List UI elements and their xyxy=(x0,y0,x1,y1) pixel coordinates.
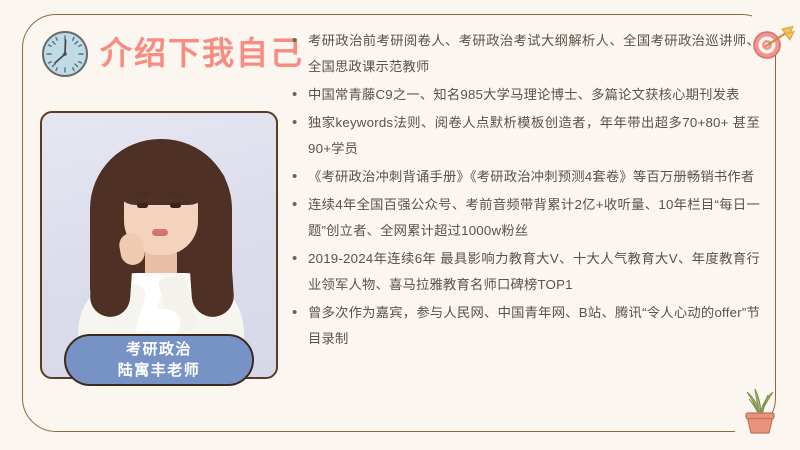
bullet-marker-icon: • xyxy=(292,192,308,218)
list-item: • 中国常青藤C9之一、知名985大学马理论博士、多篇论文获核心期刊发表 xyxy=(292,82,760,108)
portrait-lips xyxy=(152,229,168,236)
list-item-text: 独家keywords法则、阅卷人点默析模板创造者，年年带出超多70+80+ 甚至… xyxy=(308,110,760,162)
list-item: • 《考研政治冲刺背诵手册》《考研政治冲刺预测4套卷》等百万册畅销书作者 xyxy=(292,164,760,190)
portrait-eye-right xyxy=(170,203,181,208)
list-item-text: 《考研政治冲刺背诵手册》《考研政治冲刺预测4套卷》等百万册畅销书作者 xyxy=(308,164,760,190)
list-item-text: 连续4年全国百强公众号、考前音频带背累计2亿+收听量、10年栏目“每日一题”创立… xyxy=(308,192,760,244)
instructor-name-badge: 考研政治 陆寓丰老师 xyxy=(64,334,254,386)
list-item-text: 2019-2024年连续6年 最具影响力教育大V、十大人气教育大V、年度教育行业… xyxy=(308,246,760,298)
bullet-marker-icon: • xyxy=(292,110,308,136)
credentials-list: • 考研政治前考研阅卷人、考研政治考试大纲解析人、全国考研政治巡讲师、全国思政课… xyxy=(292,28,760,354)
list-item: • 连续4年全国百强公众号、考前音频带背累计2亿+收听量、10年栏目“每日一题”… xyxy=(292,192,760,244)
list-item: • 独家keywords法则、阅卷人点默析模板创造者，年年带出超多70+80+ … xyxy=(292,110,760,162)
bullet-marker-icon: • xyxy=(292,28,308,54)
bullet-marker-icon: • xyxy=(292,164,308,190)
list-item-text: 曾多次作为嘉宾，参与人民网、中国青年网、B站、腾讯“令人心动的offer”节目录… xyxy=(308,300,760,352)
list-item-text: 中国常青藤C9之一、知名985大学马理论博士、多篇论文获核心期刊发表 xyxy=(308,82,760,108)
portrait-bow xyxy=(146,309,180,335)
target-dart-icon xyxy=(752,24,800,64)
list-item-text: 考研政治前考研阅卷人、考研政治考试大纲解析人、全国考研政治巡讲师、全国思政课示范… xyxy=(308,28,760,80)
clock-icon xyxy=(40,29,90,79)
list-item: • 2019-2024年连续6年 最具影响力教育大V、十大人气教育大V、年度教育… xyxy=(292,246,760,298)
badge-name-label: 陆寓丰老师 xyxy=(118,360,201,381)
bullet-marker-icon: • xyxy=(292,246,308,272)
slide-canvas: 介绍下我自己 考研政治 陆寓丰老师 xyxy=(0,0,800,450)
portrait-eye-left xyxy=(137,203,148,208)
list-item: • 曾多次作为嘉宾，参与人民网、中国青年网、B站、腾讯“令人心动的offer”节… xyxy=(292,300,760,352)
potted-plant-icon xyxy=(738,386,782,436)
list-item: • 考研政治前考研阅卷人、考研政治考试大纲解析人、全国考研政治巡讲师、全国思政课… xyxy=(292,28,760,80)
portrait-hair-front xyxy=(114,143,210,205)
badge-subject-label: 考研政治 xyxy=(126,339,192,360)
page-title: 介绍下我自己 xyxy=(100,33,304,73)
bullet-marker-icon: • xyxy=(292,82,308,108)
bullet-marker-icon: • xyxy=(292,300,308,326)
